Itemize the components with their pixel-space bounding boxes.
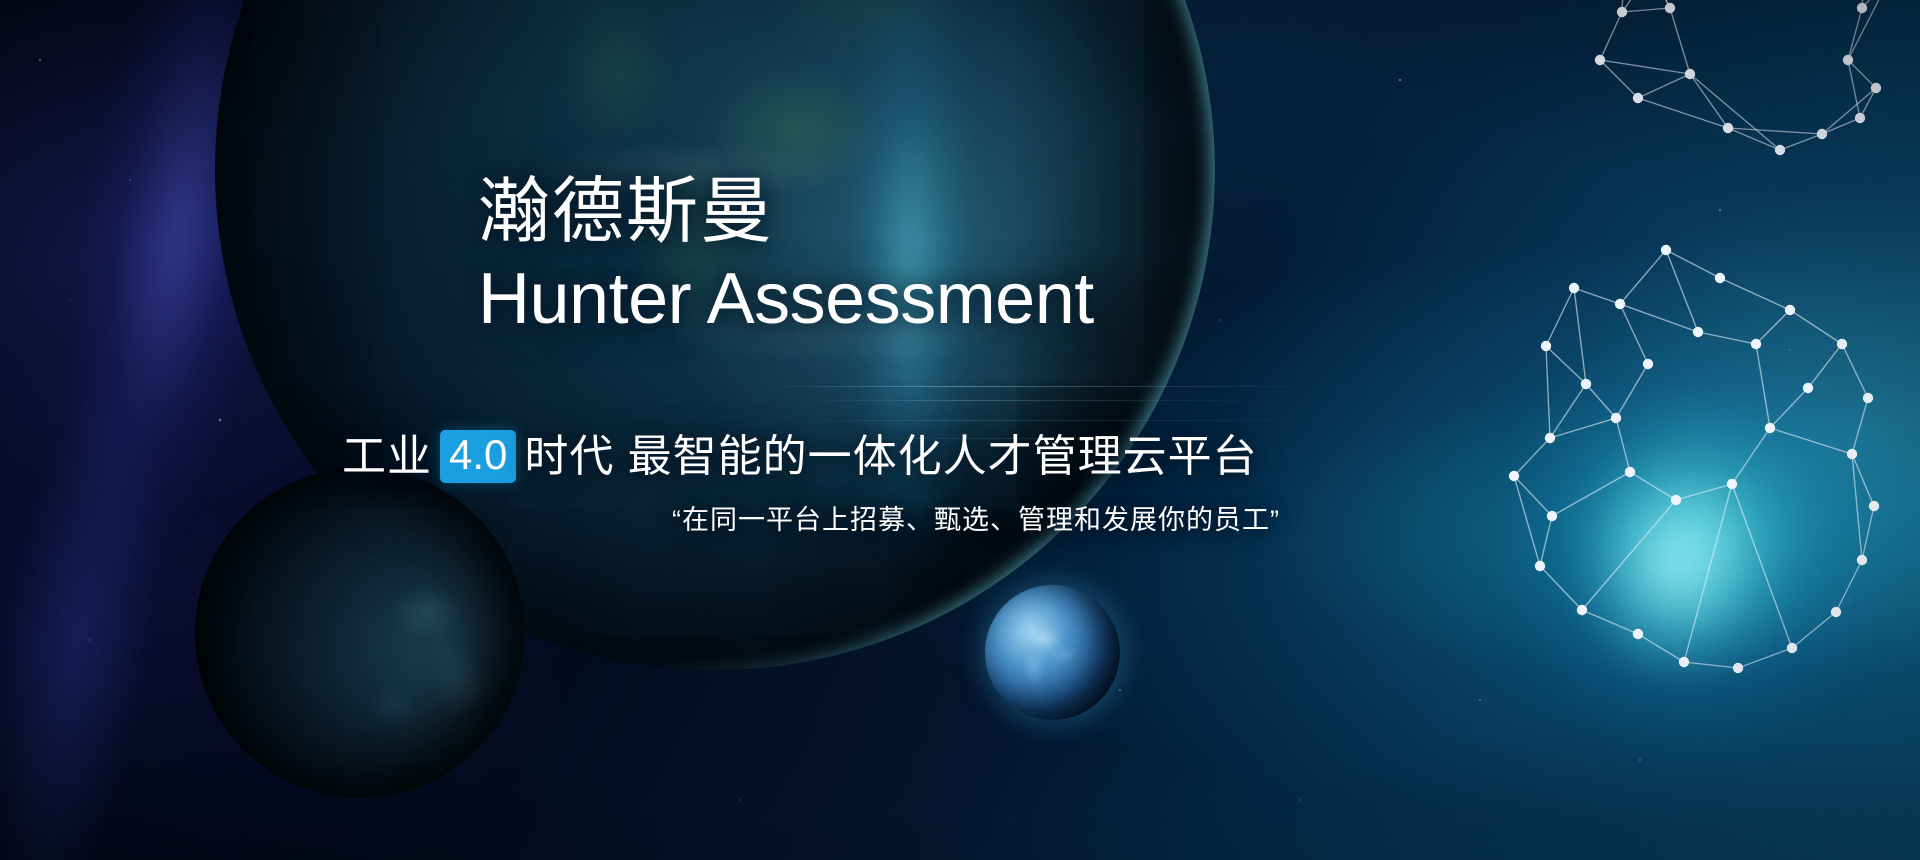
blue-moon-planet xyxy=(985,585,1120,720)
dark-moon-planet xyxy=(195,468,525,798)
tagline-before-badge: 工业 xyxy=(342,435,432,479)
page-title-en: Hunter Assessment xyxy=(478,262,1638,337)
hero-banner: 瀚德斯曼 Hunter Assessment 工业 4.0 时代 最智能的一体化… xyxy=(0,0,1920,860)
blue-moon-surface xyxy=(985,585,1120,720)
tagline: 工业 4.0 时代 最智能的一体化人才管理云平台 xyxy=(342,430,1258,483)
earth-limb-glow xyxy=(660,0,980,680)
dark-moon-surface xyxy=(195,468,525,798)
tagline-quote: “在同一平台上招募、甄选、管理和发展你的员工” xyxy=(672,504,1280,536)
network-constellation-top-right xyxy=(1390,0,1920,202)
tagline-after-badge: 时代 最智能的一体化人才管理云平台 xyxy=(524,435,1257,479)
industry-version-badge: 4.0 xyxy=(440,430,516,483)
page-title-cn: 瀚德斯曼 xyxy=(478,176,1638,248)
hero-copy: 瀚德斯曼 Hunter Assessment xyxy=(478,176,1638,337)
